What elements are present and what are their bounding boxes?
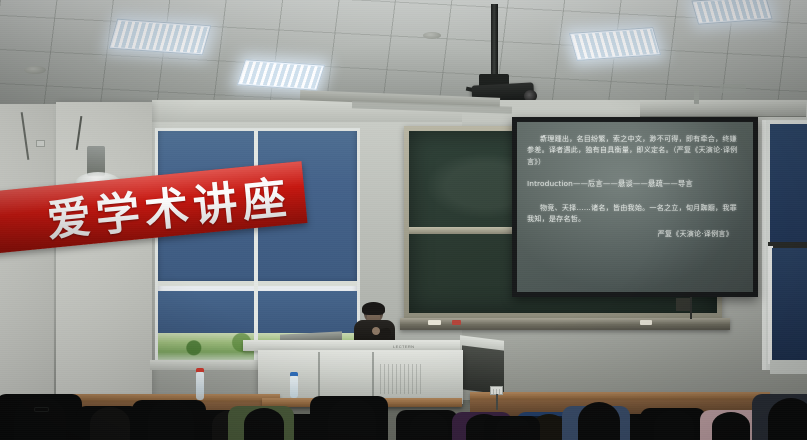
lecturer-hair: [362, 302, 385, 315]
audience-head: [148, 400, 194, 440]
ceiling-light-panel-3: [569, 27, 661, 61]
audience-head: [654, 410, 694, 440]
audience-head: [244, 408, 284, 440]
left-window: [155, 128, 360, 363]
bottle-cap: [290, 372, 298, 376]
smoke-detector-icon: [423, 32, 441, 39]
slide-paragraph-2: 物竞、天择……诸名，皆由我始。一名之立，旬月踟蹰，我罪我知，是存名哲。: [527, 202, 743, 225]
classroom-lecture-photo: 爱学术讲座 新理踵出，名目纷繁，索之中文，渺不可得，即有牵合，终嫌参差。译者遇此…: [0, 0, 807, 440]
ceiling-light-panel-2: [237, 59, 326, 91]
light-tubes: [111, 21, 209, 53]
right-blind-upper[interactable]: [770, 124, 807, 242]
audience-head: [496, 416, 530, 440]
screen-cable: [690, 297, 692, 319]
audience-head: [578, 402, 620, 440]
audience-head: [768, 398, 807, 440]
audience: [0, 340, 807, 440]
screen-housing-support: [694, 86, 699, 104]
light-tubes: [694, 0, 770, 23]
ceiling-vent: [720, 84, 746, 93]
slide-paragraph-1: 新理踵出，名目纷繁，索之中文，渺不可得，即有牵合，终嫌参差。译者遇此，独有自具衡…: [527, 133, 743, 167]
projection-screen-housing: [640, 100, 806, 117]
bottle-cap: [196, 368, 204, 372]
right-window: [762, 120, 807, 370]
chalk-piece[interactable]: [640, 320, 652, 325]
audience-head: [410, 412, 448, 440]
water-bottle[interactable]: [196, 372, 204, 400]
audience-head: [712, 412, 750, 440]
chalk-piece[interactable]: [428, 320, 441, 325]
audience-head: [328, 398, 376, 440]
eyeglasses-icon: [34, 407, 49, 412]
audience-head: [90, 407, 130, 440]
audience-head: [14, 396, 66, 440]
slide-intro-line: Introduction——卮言——悬谈——悬疏——导言: [527, 178, 743, 189]
chalk-tray: [400, 318, 730, 330]
water-bottle[interactable]: [290, 376, 298, 398]
lecturer-hand: [372, 327, 380, 335]
projection-screen: 新理踵出，名目纷繁，索之中文，渺不可得，即有牵合，终嫌参差。译者遇此，独有自具衡…: [512, 117, 758, 297]
light-tubes: [239, 61, 322, 88]
projector-mount-pole: [491, 4, 498, 80]
slide-attribution: 严复《天演论·译例言》: [527, 228, 743, 239]
light-tubes: [571, 29, 658, 59]
chalk-piece-red[interactable]: [452, 320, 461, 325]
wall-socket[interactable]: [36, 140, 45, 147]
projected-slide: 新理踵出，名目纷繁，索之中文，渺不可得，即有牵合，终嫌参差。译者遇此，独有自具衡…: [517, 122, 753, 292]
smoke-detector-icon: [24, 66, 46, 74]
